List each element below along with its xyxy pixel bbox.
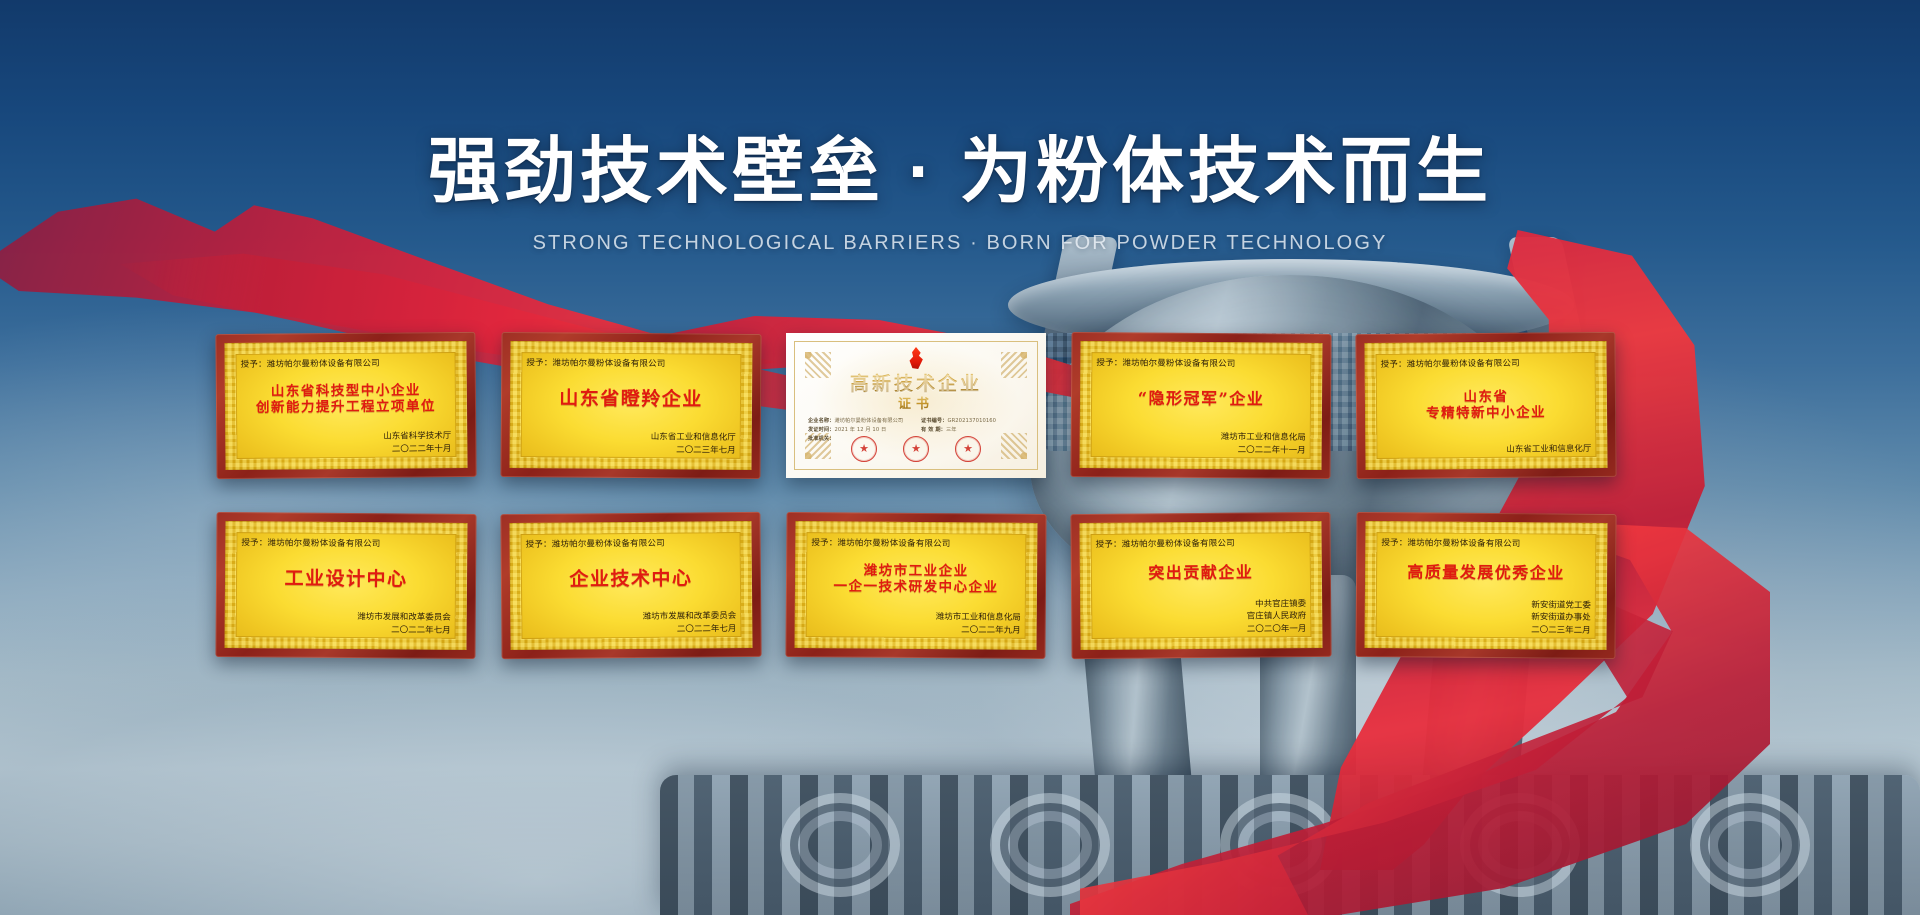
plaque-content: 授予：潍坊帕尔曼粉体设备有限公司“隐形冠军”企业潍坊市工业和信息化局二〇二二年十… (1096, 356, 1307, 457)
plaque-silk-face: 授予：潍坊帕尔曼粉体设备有限公司高质量发展优秀企业新安街道党工委新安街道办事处二… (1365, 521, 1608, 650)
plaque-title-block: 山东省专精特新中小企业 (1381, 366, 1592, 445)
award-plaque-shandong-sci-tech-sme-innovation[interactable]: 授予：潍坊帕尔曼粉体设备有限公司山东省科技型中小企业创新能力提升工程立项单位山东… (215, 332, 476, 479)
certificate-field: 有 效 期：三年 (921, 426, 1026, 433)
plaque-content: 授予：潍坊帕尔曼粉体设备有限公司工业设计中心潍坊市发展和改革委员会二〇二二年七月 (241, 536, 452, 637)
award-certificate-high-tech-enterprise-certificate[interactable]: 高新技术企业证书企业名称：潍坊帕尔曼粉体设备有限公司证书编号：GR2021370… (786, 333, 1046, 478)
award-cell: 授予：潍坊帕尔曼粉体设备有限公司企业技术中心潍坊市发展和改革委员会二〇二二年七月 (501, 513, 761, 658)
plaque-issuer-line: 二〇二二年七月 (241, 623, 451, 637)
plaque-award-title: 潍坊市工业企业 (864, 563, 969, 579)
award-cell: 授予：潍坊帕尔曼粉体设备有限公司山东省科技型中小企业创新能力提升工程立项单位山东… (216, 333, 476, 478)
relief-ring (990, 793, 1110, 897)
plaque-issuer-line: 二〇二〇年一月 (1096, 623, 1306, 637)
plaque-silk-face: 授予：潍坊帕尔曼粉体设备有限公司山东省科技型中小企业创新能力提升工程立项单位山东… (224, 341, 467, 470)
award-cell: 授予：潍坊帕尔曼粉体设备有限公司高质量发展优秀企业新安街道党工委新安街道办事处二… (1356, 513, 1616, 658)
plaque-issuer-block: 潍坊市发展和改革委员会二〇二二年七月 (241, 611, 451, 637)
official-seal-icon: ★ (851, 436, 877, 462)
plaque-issuer-line: 二〇二三年七月 (526, 443, 736, 457)
plaque-silk-face: 授予：潍坊帕尔曼粉体设备有限公司潍坊市工业企业一企一技术研发中心企业潍坊市工业和… (795, 521, 1038, 650)
plaque-issuer-line: 山东省工业和信息化厅 (1381, 443, 1591, 457)
plaque-issuer-block: 山东省科学技术厅二〇二二年十月 (241, 430, 451, 456)
plaque-content: 授予：潍坊帕尔曼粉体设备有限公司山东省科技型中小企业创新能力提升工程立项单位山东… (241, 356, 452, 457)
certificate-field: 证书编号：GR202137010160 (921, 417, 1026, 424)
award-cell: 授予：潍坊帕尔曼粉体设备有限公司潍坊市工业企业一企一技术研发中心企业潍坊市工业和… (786, 513, 1046, 658)
award-plaque-weifang-one-enterprise-one-tech-rd-center[interactable]: 授予：潍坊帕尔曼粉体设备有限公司潍坊市工业企业一企一技术研发中心企业潍坊市工业和… (785, 512, 1046, 659)
plaque-issuer-block: 潍坊市工业和信息化局二〇二二年十一月 (1096, 431, 1306, 457)
plaque-content: 授予：潍坊帕尔曼粉体设备有限公司山东省瞪羚企业山东省工业和信息化厅二〇二三年七月 (526, 356, 737, 457)
certificate-field: 企业名称：潍坊帕尔曼粉体设备有限公司 (808, 417, 913, 424)
award-cell: 授予：潍坊帕尔曼粉体设备有限公司工业设计中心潍坊市发展和改革委员会二〇二二年七月 (216, 513, 476, 658)
award-cell: 授予：潍坊帕尔曼粉体设备有限公司山东省专精特新中小企业山东省工业和信息化厅 (1356, 333, 1616, 478)
plaque-issuer-block: 潍坊市工业和信息化局二〇二二年九月 (811, 611, 1021, 637)
plaque-issuer-block: 中共官庄镇委官庄镇人民政府二〇二〇年一月 (1096, 598, 1306, 637)
plaque-issuer-block: 山东省工业和信息化厅 (1381, 443, 1591, 457)
plaque-award-title: 高质量发展优秀企业 (1407, 563, 1565, 582)
plaque-silk-face: 授予：潍坊帕尔曼粉体设备有限公司山东省瞪羚企业山东省工业和信息化厅二〇二三年七月 (510, 341, 753, 470)
award-plaque-grid: 授予：潍坊帕尔曼粉体设备有限公司山东省科技型中小企业创新能力提升工程立项单位山东… (216, 333, 1716, 658)
award-plaque-outstanding-contribution-enterprise[interactable]: 授予：潍坊帕尔曼粉体设备有限公司突出贡献企业中共官庄镇委官庄镇人民政府二〇二〇年… (1070, 512, 1331, 659)
plaque-title-block: 山东省科技型中小企业创新能力提升工程立项单位 (241, 366, 452, 432)
plaque-issuer-line: 二〇二三年二月 (1381, 623, 1591, 637)
award-cell: 高新技术企业证书企业名称：潍坊帕尔曼粉体设备有限公司证书编号：GR2021370… (786, 333, 1046, 478)
award-cell: 授予：潍坊帕尔曼粉体设备有限公司山东省瞪羚企业山东省工业和信息化厅二〇二三年七月 (501, 333, 761, 478)
plaque-title-block: 潍坊市工业企业一企一技术研发中心企业 (811, 546, 1021, 612)
award-plaque-shandong-gazelle-enterprise[interactable]: 授予：潍坊帕尔曼粉体设备有限公司山东省瞪羚企业山东省工业和信息化厅二〇二三年七月 (500, 332, 761, 479)
plaque-issuer-line: 二〇二二年九月 (811, 623, 1021, 637)
certificate-seal-row: ★★★ (786, 436, 1046, 462)
plaque-award-title: 企业技术中心 (569, 568, 692, 590)
plaque-issuer-line: 二〇二二年七月 (526, 623, 736, 637)
award-plaque-enterprise-technology-center[interactable]: 授予：潍坊帕尔曼粉体设备有限公司企业技术中心潍坊市发展和改革委员会二〇二二年七月 (500, 512, 761, 659)
hero-banner: 强劲技术壁垒 · 为粉体技术而生 STRONG TECHNOLOGICAL BA… (0, 0, 1920, 915)
page-subtitle: STRONG TECHNOLOGICAL BARRIERS · BORN FOR… (0, 232, 1920, 255)
certificate-field: 发证时间：2021 年 12 月 10 日 (808, 426, 913, 433)
plaque-award-title: 山东省瞪羚企业 (559, 388, 703, 410)
plaque-content: 授予：潍坊帕尔曼粉体设备有限公司高质量发展优秀企业新安街道党工委新安街道办事处二… (1381, 536, 1592, 637)
relief-ring (1690, 793, 1810, 897)
plaque-content: 授予：潍坊帕尔曼粉体设备有限公司突出贡献企业中共官庄镇委官庄镇人民政府二〇二〇年… (1096, 536, 1307, 637)
award-plaque-high-quality-development-excellent-enterprise[interactable]: 授予：潍坊帕尔曼粉体设备有限公司高质量发展优秀企业新安街道党工委新安街道办事处二… (1355, 512, 1616, 659)
plaque-content: 授予：潍坊帕尔曼粉体设备有限公司山东省专精特新中小企业山东省工业和信息化厅 (1381, 356, 1592, 457)
award-cell: 授予：潍坊帕尔曼粉体设备有限公司“隐形冠军”企业潍坊市工业和信息化局二〇二二年十… (1071, 333, 1331, 478)
plaque-issuer-block: 山东省工业和信息化厅二〇二三年七月 (526, 431, 736, 457)
plaque-content: 授予：潍坊帕尔曼粉体设备有限公司潍坊市工业企业一企一技术研发中心企业潍坊市工业和… (811, 536, 1022, 637)
plaque-title-block: 工业设计中心 (241, 546, 451, 612)
plaque-title-block: 企业技术中心 (526, 546, 737, 612)
plaque-silk-face: 授予：潍坊帕尔曼粉体设备有限公司“隐形冠军”企业潍坊市工业和信息化局二〇二二年十… (1080, 341, 1323, 470)
plaque-title-block: “隐形冠军”企业 (1096, 366, 1306, 432)
plaque-award-title: 一企一技术研发中心企业 (833, 579, 998, 595)
plaque-award-title: “隐形冠军”企业 (1138, 390, 1265, 409)
official-seal-icon: ★ (903, 436, 929, 462)
plaque-award-title: 创新能力提升工程立项单位 (256, 399, 436, 416)
plaque-issuer-block: 潍坊市发展和改革委员会二〇二二年七月 (526, 610, 736, 636)
certificate-subtitle: 证书 (786, 393, 1046, 412)
plaque-title-block: 高质量发展优秀企业 (1381, 546, 1591, 600)
plaque-silk-face: 授予：潍坊帕尔曼粉体设备有限公司工业设计中心潍坊市发展和改革委员会二〇二二年七月 (225, 521, 468, 650)
plaque-silk-face: 授予：潍坊帕尔曼粉体设备有限公司山东省专精特新中小企业山东省工业和信息化厅 (1364, 341, 1607, 470)
plaque-award-title: 山东省科技型中小企业 (271, 383, 421, 399)
award-plaque-shandong-specialized-sme[interactable]: 授予：潍坊帕尔曼粉体设备有限公司山东省专精特新中小企业山东省工业和信息化厅 (1355, 332, 1616, 479)
plaque-silk-face: 授予：潍坊帕尔曼粉体设备有限公司突出贡献企业中共官庄镇委官庄镇人民政府二〇二〇年… (1079, 521, 1322, 650)
plaque-content: 授予：潍坊帕尔曼粉体设备有限公司企业技术中心潍坊市发展和改革委员会二〇二二年七月 (526, 536, 737, 637)
award-cell: 授予：潍坊帕尔曼粉体设备有限公司突出贡献企业中共官庄镇委官庄镇人民政府二〇二〇年… (1071, 513, 1331, 658)
official-seal-icon: ★ (955, 436, 981, 462)
plaque-award-title: 山东省 (1463, 390, 1508, 406)
plaque-title-block: 山东省瞪羚企业 (526, 366, 736, 432)
plaque-award-title: 专精特新中小企业 (1426, 405, 1546, 421)
award-plaque-industrial-design-center[interactable]: 授予：潍坊帕尔曼粉体设备有限公司工业设计中心潍坊市发展和改革委员会二〇二二年七月 (215, 512, 476, 659)
plaque-issuer-block: 新安街道党工委新安街道办事处二〇二三年二月 (1381, 598, 1591, 637)
plaque-award-title: 突出贡献企业 (1148, 564, 1253, 583)
plaque-issuer-line: 二〇二二年十月 (241, 443, 451, 457)
plaque-title-block: 突出贡献企业 (1096, 546, 1306, 600)
relief-ring (780, 793, 900, 897)
certificate-title: 高新技术企业 (786, 369, 1046, 396)
hero-heading-group: 强劲技术壁垒 · 为粉体技术而生 STRONG TECHNOLOGICAL BA… (0, 0, 1920, 255)
plaque-issuer-line: 二〇二二年十一月 (1096, 443, 1306, 457)
award-plaque-invisible-champion-enterprise[interactable]: 授予：潍坊帕尔曼粉体设备有限公司“隐形冠军”企业潍坊市工业和信息化局二〇二二年十… (1070, 332, 1331, 479)
page-title: 强劲技术壁垒 · 为粉体技术而生 (0, 136, 1920, 208)
plaque-silk-face: 授予：潍坊帕尔曼粉体设备有限公司企业技术中心潍坊市发展和改革委员会二〇二二年七月 (509, 521, 752, 650)
plaque-award-title: 工业设计中心 (284, 568, 407, 590)
